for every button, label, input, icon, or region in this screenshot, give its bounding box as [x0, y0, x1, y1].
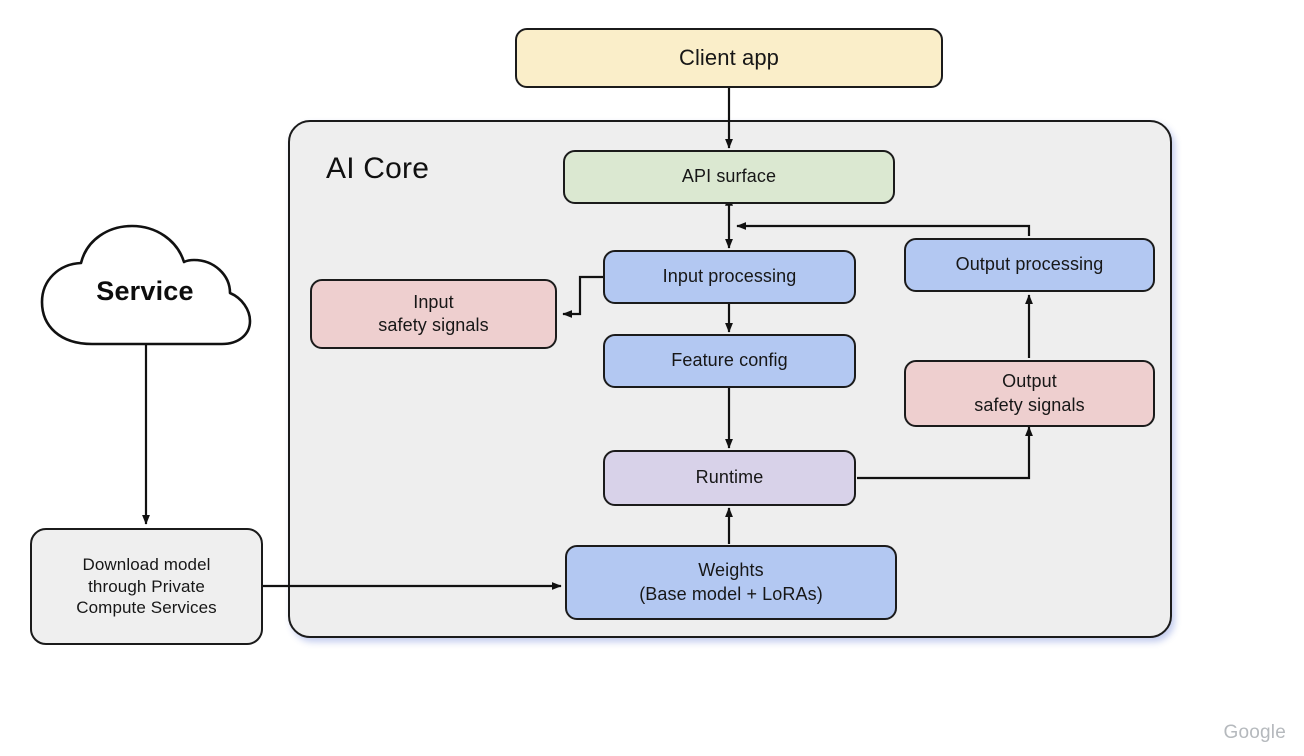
- service-cloud-label: Service: [34, 222, 256, 350]
- node-feature-config[interactable]: Feature config: [603, 334, 856, 388]
- node-client-app[interactable]: Client app: [515, 28, 943, 88]
- ai-core-title: AI Core: [326, 152, 429, 186]
- node-api-surface[interactable]: API surface: [563, 150, 895, 204]
- diagram-canvas: AI Core: [0, 0, 1304, 756]
- google-watermark: Google: [1224, 722, 1286, 744]
- node-input-safety-signals[interactable]: Input safety signals: [310, 279, 557, 349]
- node-output-safety-signals[interactable]: Output safety signals: [904, 360, 1155, 427]
- service-cloud: Service: [34, 222, 256, 350]
- node-weights[interactable]: Weights (Base model + LoRAs): [565, 545, 897, 620]
- node-output-processing[interactable]: Output processing: [904, 238, 1155, 292]
- node-input-processing[interactable]: Input processing: [603, 250, 856, 304]
- node-download-model[interactable]: Download model through Private Compute S…: [30, 528, 263, 645]
- node-runtime[interactable]: Runtime: [603, 450, 856, 506]
